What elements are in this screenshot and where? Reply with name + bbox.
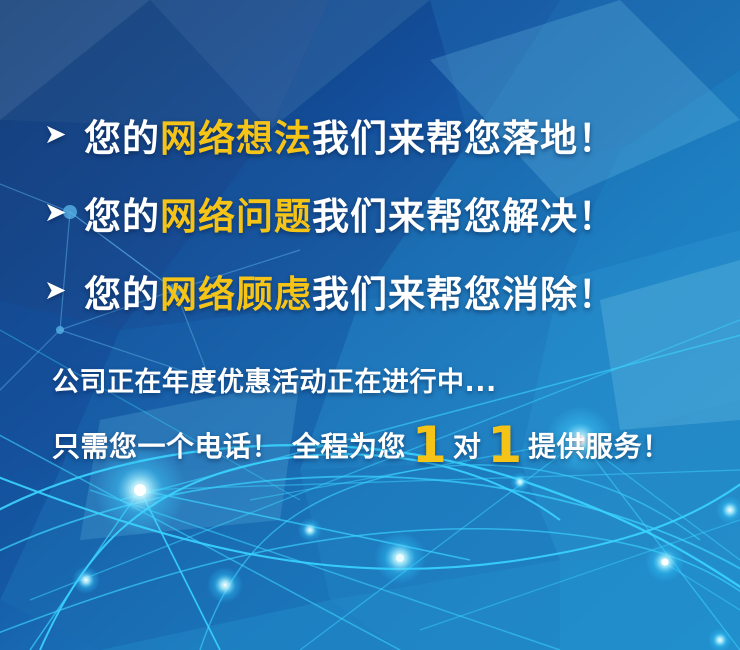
headline-segment-highlight: 网络问题 bbox=[160, 195, 312, 238]
headline-row-2: ➤ 您的网络问题我们来帮您解决！ bbox=[0, 174, 740, 252]
headline-segment-plain: 我们来帮您解决！ bbox=[312, 195, 616, 238]
headline-text-3: 您的网络顾虑我们来帮您消除！ bbox=[84, 264, 616, 318]
headline-segment-plain: 您的 bbox=[84, 273, 160, 316]
headline-segment-highlight: 网络想法 bbox=[160, 117, 312, 160]
headline-row-1: ➤ 您的网络想法我们来帮您落地！ bbox=[0, 96, 740, 174]
arrow-right-triangle-icon: ➤ bbox=[44, 199, 84, 226]
service-text-part2: 全程为您 bbox=[292, 430, 406, 463]
headline-text-2: 您的网络问题我们来帮您解决！ bbox=[84, 186, 616, 240]
service-text-middle: 对 bbox=[453, 430, 482, 463]
headline-segment-plain: 您的 bbox=[84, 195, 160, 238]
headline-segment-highlight: 网络顾虑 bbox=[160, 273, 312, 316]
promo-banner: ➤ 您的网络想法我们来帮您落地！ ➤ 您的网络问题我们来帮您解决！ ➤ 您的网络… bbox=[0, 0, 740, 650]
headline-text-1: 您的网络想法我们来帮您落地！ bbox=[84, 108, 616, 162]
headline-segment-plain: 您的 bbox=[84, 117, 160, 160]
headline-segment-plain: 我们来帮您消除！ bbox=[312, 273, 616, 316]
service-number-second: 1 bbox=[481, 416, 528, 474]
service-text: 只需您一个电话！全程为您1对1提供服务！ bbox=[0, 414, 740, 480]
service-number-first: 1 bbox=[406, 416, 453, 474]
headline-row-3: ➤ 您的网络顾虑我们来帮您消除！ bbox=[0, 252, 740, 330]
promo-text: 公司正在年度优惠活动正在进行中... bbox=[0, 352, 740, 414]
headline-segment-plain: 我们来帮您落地！ bbox=[312, 117, 616, 160]
subline-list: 公司正在年度优惠活动正在进行中... 只需您一个电话！全程为您1对1提供服务！ bbox=[0, 352, 740, 480]
banner-content: ➤ 您的网络想法我们来帮您落地！ ➤ 您的网络问题我们来帮您解决！ ➤ 您的网络… bbox=[0, 0, 740, 650]
service-text-part1: 只需您一个电话！ bbox=[52, 430, 280, 463]
arrow-right-triangle-icon: ➤ bbox=[44, 121, 84, 148]
service-text-part3: 提供服务！ bbox=[528, 430, 671, 463]
headline-list: ➤ 您的网络想法我们来帮您落地！ ➤ 您的网络问题我们来帮您解决！ ➤ 您的网络… bbox=[0, 96, 740, 330]
arrow-right-triangle-icon: ➤ bbox=[44, 277, 84, 304]
